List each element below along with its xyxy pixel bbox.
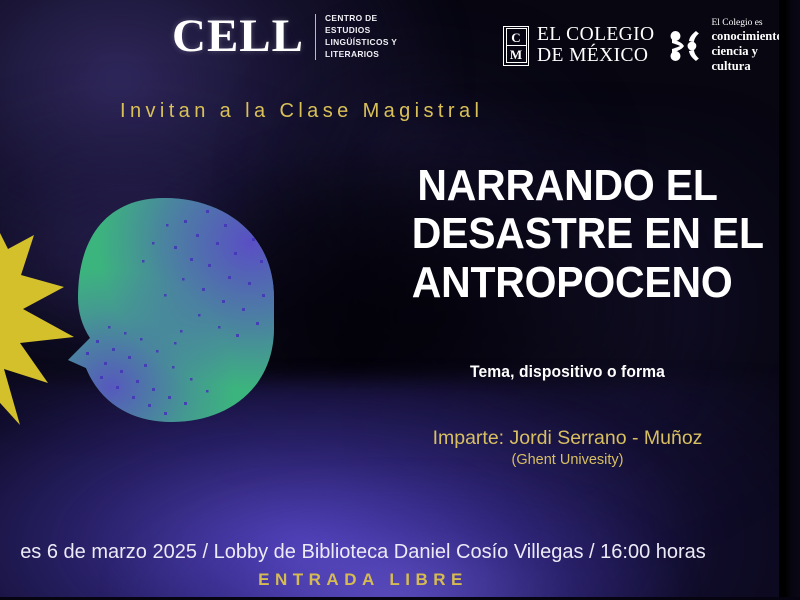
colmex-emblem-icon xyxy=(669,29,703,63)
colmex-name: EL COLEGIO DE MÉXICO xyxy=(537,25,655,66)
colmex-cm-monogram-icon: C M xyxy=(503,26,529,66)
cell-subtitle-line-4: LITERARIOS xyxy=(325,49,397,61)
event-details: es 6 de marzo 2025 / Lobby de Biblioteca… xyxy=(0,541,800,564)
speaker-affiliation: (Ghent Univesity) xyxy=(400,452,735,468)
colmex-logo: C M EL COLEGIO DE MÉXICO El Colegio es c… xyxy=(503,18,800,74)
title-line-2: DESASTRE EN EL xyxy=(412,210,724,258)
cell-subtitle-line-2: ESTUDIOS xyxy=(325,25,397,37)
invitation-text: Invitan a la Clase Magistral xyxy=(120,100,483,123)
poster-header: CELL CENTRO DE ESTUDIOS LINGÜÍSTICOS Y L… xyxy=(0,0,800,88)
title-line-1: NARRANDO EL xyxy=(412,162,724,210)
logo-divider xyxy=(315,14,316,60)
colmex-name-line-1: EL COLEGIO xyxy=(537,25,655,46)
speaker-name: Imparte: Jordi Serrano - Muñoz xyxy=(400,427,735,450)
monogram-letter-m: M xyxy=(507,45,526,62)
cell-logo: CELL CENTRO DE ESTUDIOS LINGÜÍSTICOS Y L… xyxy=(172,13,397,61)
event-poster: CELL CENTRO DE ESTUDIOS LINGÜÍSTICOS Y L… xyxy=(0,0,800,600)
monogram-letter-c: C xyxy=(507,29,526,45)
poster-title: NARRANDO EL DESASTRE EN EL ANTROPOCENO xyxy=(412,162,724,307)
right-letterbox-band xyxy=(781,0,800,600)
cell-wordmark: CELL xyxy=(172,13,304,60)
colmex-name-line-2: DE MÉXICO xyxy=(537,46,655,67)
poster-subtitle: Tema, dispositivo o forma xyxy=(413,362,721,382)
cell-subtitle: CENTRO DE ESTUDIOS LINGÜÍSTICOS Y LITERA… xyxy=(325,13,397,61)
cell-subtitle-line-3: LINGÜÍSTICOS Y xyxy=(325,37,397,49)
cell-subtitle-line-1: CENTRO DE xyxy=(325,13,397,25)
admission-notice: ENTRADA LIBRE xyxy=(0,570,800,590)
title-line-3: ANTROPOCENO xyxy=(412,259,724,307)
